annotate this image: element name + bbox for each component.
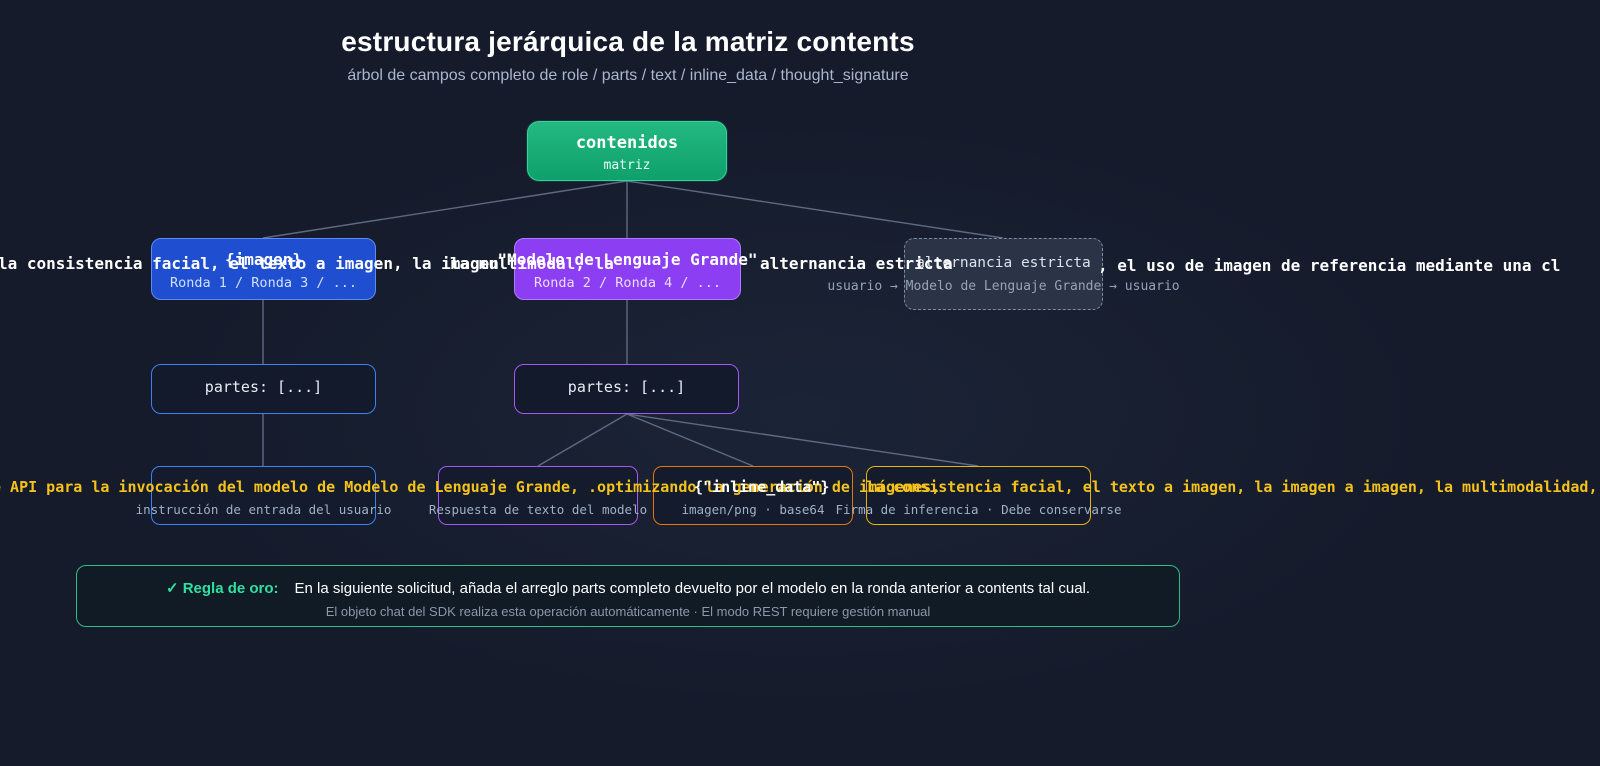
node-subtitle: Ronda 2 / Ronda 4 / ... bbox=[534, 275, 721, 291]
node-title: alternancia estricta bbox=[916, 255, 1091, 271]
node-title: {imagen} bbox=[225, 250, 302, 269]
golden-rule-badge: ✓ Regla de oro: bbox=[166, 580, 279, 597]
node-alternancia-estricta[interactable]: alternancia estricta usuario → Modelo de… bbox=[904, 238, 1103, 310]
node-leaf-text-user[interactable]: instrucción de entrada del usuario bbox=[151, 466, 376, 525]
node-role-model[interactable]: "Modelo de Lenguaje Grande" Ronda 2 / Ro… bbox=[514, 238, 741, 300]
node-parts-model[interactable]: partes: [...] bbox=[514, 364, 739, 414]
node-parts-user[interactable]: partes: [...] bbox=[151, 364, 376, 414]
node-contents-root[interactable]: contenidos matriz bbox=[527, 121, 727, 181]
node-leaf-thought-signature[interactable]: Firma de inferencia · Debe conservarse bbox=[866, 466, 1091, 525]
node-subtitle: matriz bbox=[604, 158, 651, 173]
golden-rule-line: ✓ Regla de oro:En la siguiente solicitud… bbox=[77, 579, 1179, 597]
node-subtitle: usuario → Modelo de Lenguaje Grande → us… bbox=[827, 279, 1179, 294]
node-leaf-inline-data[interactable]: imagen/png · base64 bbox=[653, 466, 853, 525]
golden-rule-callout: ✓ Regla de oro:En la siguiente solicitud… bbox=[76, 565, 1180, 627]
overflow-text-row2-far: , el uso de imagen de referencia mediant… bbox=[1098, 256, 1560, 275]
node-subtitle: Ronda 1 / Ronda 3 / ... bbox=[170, 275, 357, 291]
node-role-user[interactable]: {imagen} Ronda 1 / Ronda 3 / ... bbox=[151, 238, 376, 300]
node-title: "Modelo de Lenguaje Grande" bbox=[497, 250, 757, 269]
node-title: contenidos bbox=[576, 133, 678, 153]
golden-rule-subtext: El objeto chat del SDK realiza esta oper… bbox=[77, 604, 1179, 619]
page-title: estructura jerárquica de la matriz conte… bbox=[0, 26, 1256, 58]
node-leaf-text-model[interactable]: Respuesta de texto del modelo bbox=[438, 466, 638, 525]
node-subtitle: imagen/png · base64 bbox=[682, 502, 825, 517]
node-title: partes: [...] bbox=[205, 378, 322, 396]
golden-rule-text: En la siguiente solicitud, añada el arre… bbox=[295, 580, 1090, 597]
node-title: partes: [...] bbox=[568, 378, 685, 396]
page-subtitle: árbol de campos completo de role / parts… bbox=[0, 67, 1256, 85]
node-subtitle: Respuesta de texto del modelo bbox=[429, 502, 647, 517]
node-subtitle: Firma de inferencia · Debe conservarse bbox=[836, 502, 1122, 517]
node-subtitle: instrucción de entrada del usuario bbox=[136, 502, 392, 517]
